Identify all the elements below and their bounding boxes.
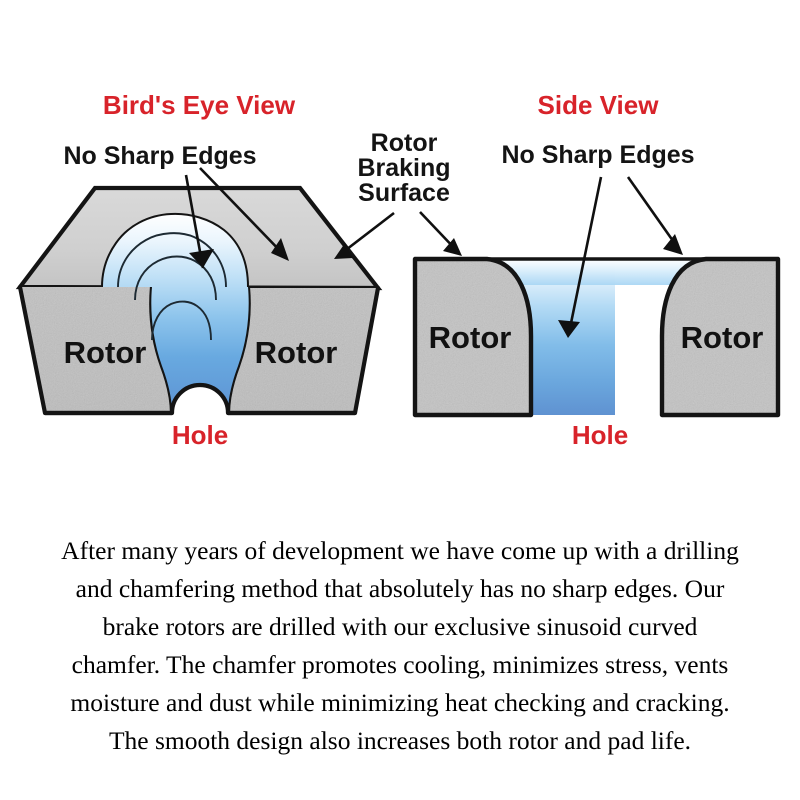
birds-eye-block: Rotor Rotor	[20, 188, 378, 413]
side-view-block: Rotor Rotor	[415, 259, 778, 415]
description-line-6: The smooth design also increases both ro…	[109, 726, 691, 755]
side-nse-right-arrowhead	[663, 234, 683, 255]
right-no-sharp-edges-label: No Sharp Edges	[501, 141, 694, 169]
side-left-rotor-label: Rotor	[429, 320, 512, 355]
description-line-1: After many years of development we have …	[61, 536, 739, 565]
rbs-line-2: Braking	[357, 154, 450, 182]
rbs-line-1: Rotor	[371, 129, 438, 157]
right-diagram-group: Side View No Sharp Edges Rotor Rotor	[415, 90, 778, 450]
right-block-rotor-label: Rotor	[255, 335, 338, 370]
right-hole-label: Hole	[572, 420, 628, 450]
description-line-2: and chamfering method that absolutely ha…	[76, 574, 725, 603]
left-block-rotor-label: Rotor	[64, 335, 147, 370]
description-line-3: brake rotors are drilled with our exclus…	[103, 612, 698, 641]
left-diagram-title: Bird's Eye View	[103, 90, 296, 120]
right-diagram-title: Side View	[538, 90, 660, 120]
left-diagram-group: Bird's Eye View No Sharp Edges Rotor Bra…	[20, 90, 451, 450]
side-right-rotor-label: Rotor	[681, 320, 764, 355]
description-line-5: moisture and dust while minimizing heat …	[70, 688, 729, 717]
rotor-chamfer-diagram: Bird's Eye View No Sharp Edges Rotor Bra…	[0, 0, 800, 800]
rbs-line-3: Surface	[358, 179, 450, 207]
left-no-sharp-edges-label: No Sharp Edges	[63, 142, 256, 170]
diagram-page: Bird's Eye View No Sharp Edges Rotor Bra…	[0, 0, 800, 800]
side-nse-right-leader	[628, 177, 678, 248]
description-paragraph: After many years of development we have …	[61, 536, 739, 755]
left-hole-label: Hole	[172, 420, 228, 450]
rotor-braking-surface-label: Rotor Braking Surface	[357, 129, 450, 207]
description-line-4: chamfer. The chamfer promotes cooling, m…	[72, 650, 729, 679]
